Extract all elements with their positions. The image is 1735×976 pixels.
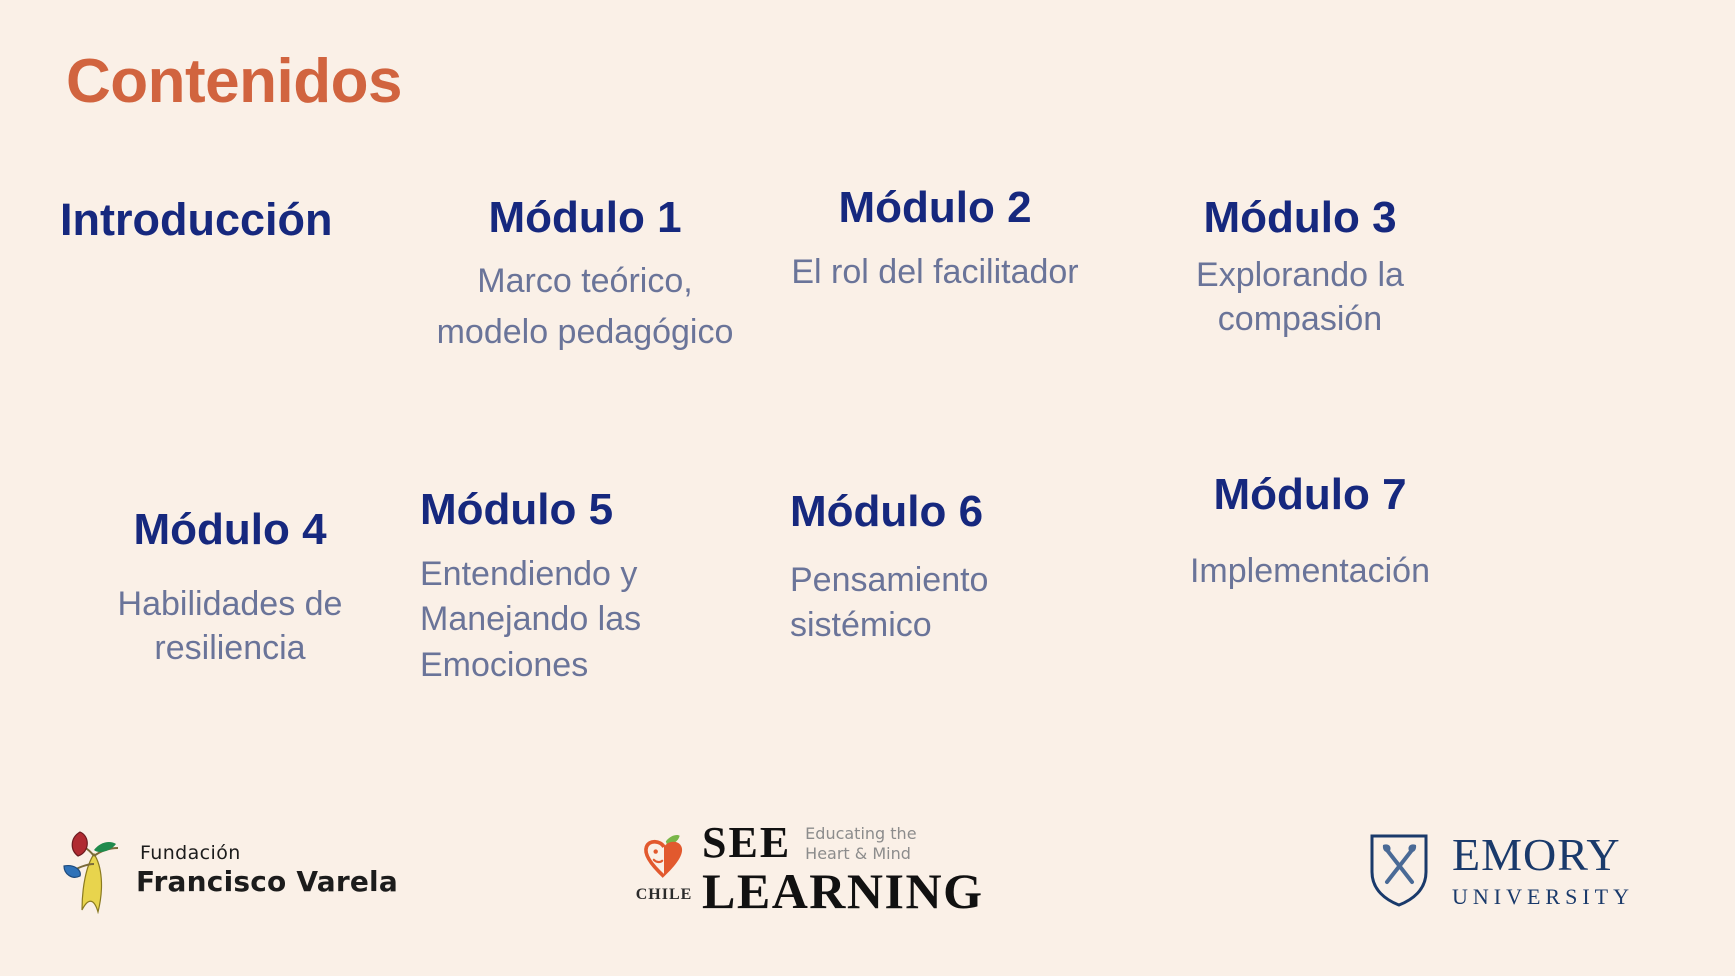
logo-see-word: SEE — [702, 822, 791, 864]
logo-varela-line1: Fundación — [140, 842, 398, 864]
module-heading: Módulo 6 — [790, 487, 1090, 536]
module-item-modulo-7[interactable]: Módulo 7 Implementación — [1140, 470, 1480, 593]
module-subtitle: Habilidades de resiliencia — [80, 582, 380, 670]
logo-see-learning: CHILE SEE Educating the Heart & Mind LEA… — [636, 822, 983, 916]
module-item-modulo-5[interactable]: Módulo 5 Entendiendo y Manejando las Emo… — [420, 485, 740, 688]
module-heading: Módulo 2 — [790, 183, 1080, 232]
module-item-modulo-3[interactable]: Módulo 3 Explorando la compasión — [1140, 193, 1460, 341]
logo-see-tagline: Educating the Heart & Mind — [805, 824, 916, 864]
module-heading: Introducción — [60, 195, 400, 245]
logo-see-tagline-line2: Heart & Mind — [805, 844, 911, 863]
logo-varela-text: Fundación Francisco Varela — [136, 842, 398, 898]
logo-emory-name: EMORY — [1452, 832, 1634, 878]
module-item-modulo-4[interactable]: Módulo 4 Habilidades de resiliencia — [80, 505, 380, 671]
logo-emory-sub: UNIVERSITY — [1452, 886, 1634, 908]
module-subtitle: El rol del facilitador — [790, 248, 1080, 297]
logo-learning-word: LEARNING — [702, 866, 983, 916]
see-apple-heart-icon: CHILE — [636, 834, 692, 904]
module-subtitle: Entendiendo y Manejando las Emociones — [420, 552, 740, 688]
emory-shield-icon — [1368, 832, 1430, 908]
logo-see-text: SEE Educating the Heart & Mind LEARNING — [702, 822, 983, 916]
logo-see-tagline-line1: Educating the — [805, 824, 916, 843]
module-heading: Módulo 7 — [1140, 470, 1480, 519]
module-subtitle: Marco teórico, modelo pedagógico — [420, 256, 750, 357]
module-item-modulo-6[interactable]: Módulo 6 Pensamiento sistémico — [790, 487, 1090, 649]
module-subtitle: Explorando la compasión — [1140, 254, 1460, 341]
module-heading: Módulo 4 — [80, 505, 380, 554]
slide-canvas: Contenidos Introducción Módulo 1 Marco t… — [0, 0, 1735, 976]
logo-fundacion-francisco-varela: Fundación Francisco Varela — [58, 826, 398, 914]
logo-emory-university: EMORY UNIVERSITY — [1368, 832, 1634, 908]
tree-branch-icon — [58, 826, 130, 914]
module-item-modulo-2[interactable]: Módulo 2 El rol del facilitador — [790, 183, 1080, 298]
page-title: Contenidos — [66, 48, 402, 116]
logo-see-country: CHILE — [636, 886, 693, 904]
module-heading: Módulo 5 — [420, 485, 740, 534]
logo-see-top-row: SEE Educating the Heart & Mind — [702, 822, 983, 864]
logo-bar: Fundación Francisco Varela CHILE — [0, 786, 1735, 976]
module-item-introduccion[interactable]: Introducción — [60, 195, 400, 245]
logo-varela-line2: Francisco Varela — [136, 865, 398, 898]
module-heading: Módulo 3 — [1140, 193, 1460, 242]
module-subtitle: Implementación — [1140, 549, 1480, 593]
module-item-modulo-1[interactable]: Módulo 1 Marco teórico, modelo pedagógic… — [420, 193, 750, 357]
module-subtitle: Pensamiento sistémico — [790, 558, 1090, 648]
module-heading: Módulo 1 — [420, 193, 750, 242]
logo-emory-text: EMORY UNIVERSITY — [1452, 832, 1634, 908]
